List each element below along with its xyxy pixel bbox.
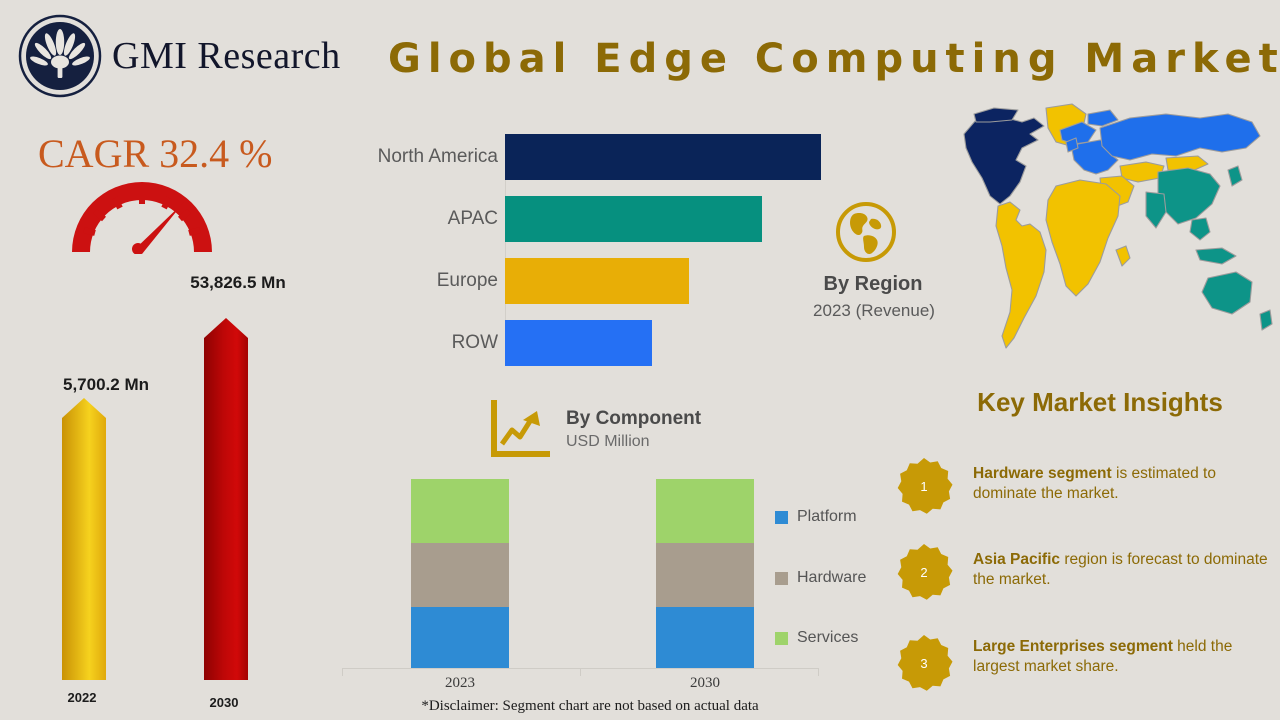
stack-year-2030: 2030 [645, 675, 765, 692]
region-bar [505, 134, 821, 180]
growth-bar-2022 [60, 398, 108, 680]
growth-bar-2030 [202, 318, 250, 680]
insight-text-1: Hardware segment is estimated to dominat… [973, 464, 1273, 504]
region-label: Europe [332, 258, 498, 304]
segment-hardware [656, 543, 754, 607]
axis-tick [342, 668, 343, 676]
region-bar [505, 196, 762, 242]
insight-highlight: Hardware segment [973, 465, 1112, 482]
badge-starburst-icon: 3 [895, 634, 953, 692]
region-row-europe: Europe [332, 258, 852, 304]
segment-hardware [411, 543, 509, 607]
region-label: ROW [332, 320, 498, 366]
segment-services [656, 479, 754, 543]
speedometer-icon [62, 182, 222, 254]
component-section-subtitle: USD Million [566, 433, 650, 451]
stacked-bar-2030 [656, 479, 754, 668]
region-bar [505, 320, 652, 366]
region-row-north-america: North America [332, 134, 852, 180]
badge-number: 1 [895, 457, 953, 515]
page-title: Global Edge Computing Market [388, 36, 1268, 82]
legend-item-platform: Platform [775, 508, 857, 526]
segment-services [411, 479, 509, 543]
insights-title: Key Market Insights [930, 387, 1270, 418]
region-label: North America [332, 134, 498, 180]
disclaimer-text: *Disclaimer: Segment chart are not based… [340, 698, 840, 715]
year-label-2030: 2030 [178, 695, 270, 710]
stack-year-2023: 2023 [400, 675, 520, 692]
badge-number: 2 [895, 543, 953, 601]
badge-number: 3 [895, 634, 953, 692]
region-row-row: ROW [332, 320, 852, 366]
cagr-label: CAGR 32.4 % [38, 130, 272, 177]
axis-tick [818, 668, 819, 676]
globe-icon [834, 200, 898, 264]
legend-item-services: Services [775, 629, 858, 647]
insight-highlight: Large Enterprises segment [973, 638, 1173, 655]
legend-swatch-platform [775, 511, 788, 524]
region-label: APAC [332, 196, 498, 242]
insight-text-2: Asia Pacific region is forecast to domin… [973, 550, 1273, 590]
legend-item-hardware: Hardware [775, 569, 866, 587]
world-map [960, 100, 1280, 375]
region-bar-chart: North America APAC Europe ROW [332, 134, 852, 366]
segment-platform [411, 607, 509, 668]
component-stacked-bar-chart: 2023 2030 [340, 470, 840, 720]
year-label-2022: 2022 [36, 690, 128, 705]
legend-label: Services [797, 629, 858, 647]
component-section-title: By Component [566, 408, 701, 430]
badge-starburst-icon: 2 [895, 543, 953, 601]
brand-name: GMI Research [112, 34, 341, 78]
legend-label: Hardware [797, 569, 866, 587]
region-section-title: By Region [798, 273, 948, 296]
infographic-canvas: GMI Research Global Edge Computing Marke… [0, 0, 1280, 720]
growth-chart-icon [490, 400, 550, 458]
badge-starburst-icon: 1 [895, 457, 953, 515]
legend-swatch-services [775, 632, 788, 645]
axis-tick [580, 668, 581, 676]
legend-label: Platform [797, 508, 857, 526]
value-2030: 53,826.5 Mn [158, 273, 318, 293]
segment-platform [656, 607, 754, 668]
stacked-bar-2023 [411, 479, 509, 668]
gmi-palm-logo-icon [18, 14, 102, 98]
legend-swatch-hardware [775, 572, 788, 585]
value-2022: 5,700.2 Mn [36, 375, 176, 395]
region-row-apac: APAC [332, 196, 852, 242]
insight-text-3: Large Enterprises segment held the large… [973, 637, 1273, 677]
region-bar [505, 258, 689, 304]
region-section-subtitle: 2023 (Revenue) [788, 301, 960, 321]
insight-highlight: Asia Pacific [973, 551, 1060, 568]
